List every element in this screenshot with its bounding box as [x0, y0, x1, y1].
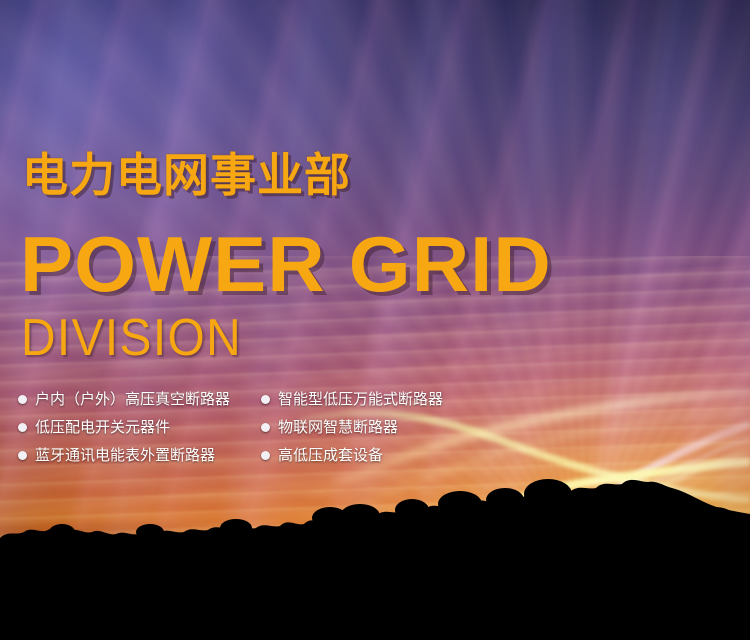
list-item: 高低压成套设备	[261, 448, 443, 463]
english-subtitle: DIVISION	[21, 312, 242, 364]
bullet-dot-icon	[261, 451, 270, 460]
list-item: 蓝牙通讯电能表外置断路器	[18, 448, 250, 463]
list-item: 物联网智慧断路器	[261, 420, 443, 435]
bullet-dot-icon	[261, 395, 270, 404]
feature-list: 户内（户外）高压真空断路器 低压配电开关元器件 蓝牙通讯电能表外置断路器 智能型…	[0, 392, 750, 463]
chinese-title: 电力电网事业部	[22, 152, 351, 198]
english-title: POWER GRID	[20, 225, 552, 303]
bullet-dot-icon	[18, 423, 27, 432]
list-item-label: 高低压成套设备	[278, 448, 383, 463]
feature-column-left: 户内（户外）高压真空断路器 低压配电开关元器件 蓝牙通讯电能表外置断路器	[18, 392, 250, 463]
power-grid-division-banner: 电力电网事业部 POWER GRID DIVISION 户内（户外）高压真空断路…	[0, 0, 750, 640]
banner-content: 电力电网事业部 POWER GRID DIVISION 户内（户外）高压真空断路…	[0, 0, 750, 640]
list-item-label: 智能型低压万能式断路器	[278, 392, 443, 407]
list-item-label: 蓝牙通讯电能表外置断路器	[35, 448, 215, 463]
bullet-dot-icon	[18, 451, 27, 460]
bullet-dot-icon	[261, 423, 270, 432]
list-item-label: 低压配电开关元器件	[35, 420, 170, 435]
list-item: 低压配电开关元器件	[18, 420, 250, 435]
list-item: 智能型低压万能式断路器	[261, 392, 443, 407]
list-item: 户内（户外）高压真空断路器	[18, 392, 250, 407]
list-item-label: 户内（户外）高压真空断路器	[35, 392, 230, 407]
list-item-label: 物联网智慧断路器	[278, 420, 398, 435]
feature-column-right: 智能型低压万能式断路器 物联网智慧断路器 高低压成套设备	[261, 392, 443, 463]
bullet-dot-icon	[18, 395, 27, 404]
